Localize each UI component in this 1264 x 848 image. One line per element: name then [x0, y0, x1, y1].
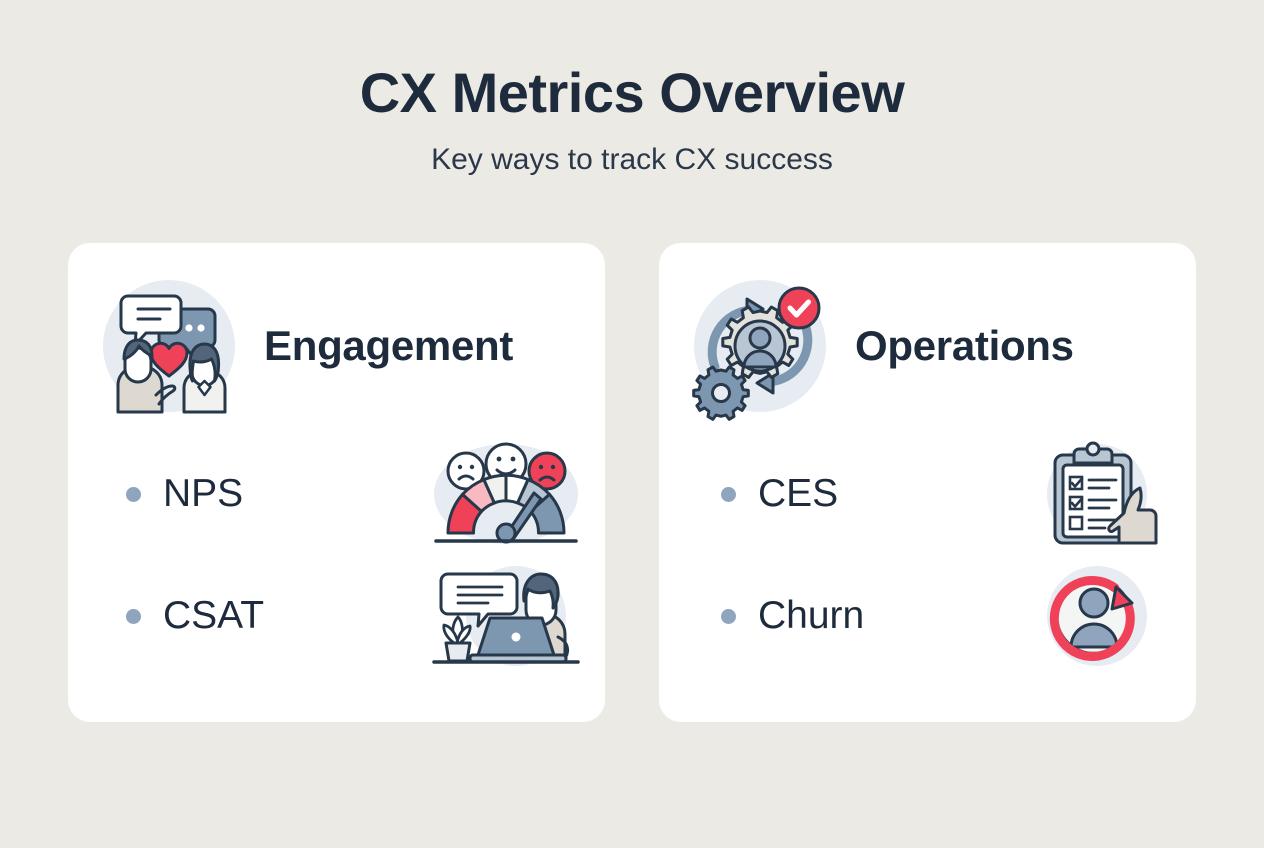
card-header: Engagement	[98, 275, 513, 417]
metric-label: CSAT	[163, 594, 264, 638]
bullet-icon	[126, 609, 141, 624]
cards-container: Engagement NPS	[68, 243, 1196, 722]
metric-row-csat[interactable]: CSAT	[68, 555, 605, 677]
people-chat-heart-icon	[98, 275, 240, 417]
bullet-icon	[721, 487, 736, 502]
card-engagement[interactable]: Engagement NPS	[68, 243, 605, 722]
gears-person-cycle-check-icon	[689, 275, 831, 417]
satisfaction-gauge-icon	[430, 439, 582, 549]
metric-list: NPS	[68, 433, 605, 677]
metric-row-ces[interactable]: CES	[659, 433, 1196, 555]
metric-list: CES	[659, 433, 1196, 677]
bullet-icon	[721, 609, 736, 624]
card-header: Operations	[689, 275, 1074, 417]
metric-row-nps[interactable]: NPS	[68, 433, 605, 555]
person-circular-arrow-icon	[1021, 561, 1173, 671]
header: CX Metrics Overview Key ways to track CX…	[0, 62, 1264, 178]
page-title: CX Metrics Overview	[0, 62, 1264, 124]
card-title: Operations	[855, 322, 1074, 370]
metric-label: NPS	[163, 472, 243, 516]
slide-canvas: CX Metrics Overview Key ways to track CX…	[0, 0, 1264, 848]
clipboard-checklist-hand-icon	[1021, 439, 1173, 549]
metric-label: Churn	[758, 594, 864, 638]
card-title: Engagement	[264, 322, 513, 370]
person-laptop-chat-icon	[430, 561, 582, 671]
metric-row-churn[interactable]: Churn	[659, 555, 1196, 677]
page-subtitle: Key ways to track CX success	[0, 142, 1264, 178]
card-operations[interactable]: Operations CES	[659, 243, 1196, 722]
bullet-icon	[126, 487, 141, 502]
metric-label: CES	[758, 472, 838, 516]
